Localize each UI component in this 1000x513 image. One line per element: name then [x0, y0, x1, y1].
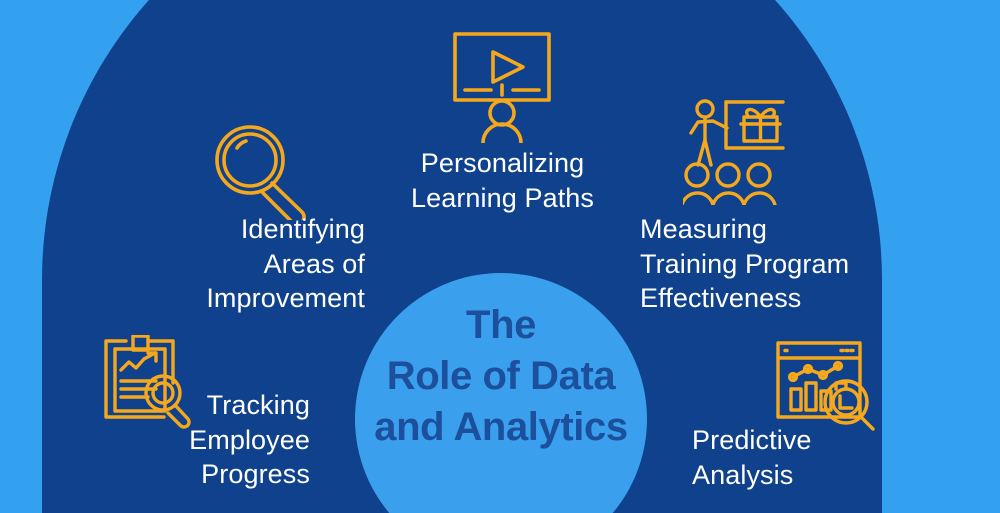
label-measuring-training-program-effectiveness: Measuring Training Program Effectiveness — [640, 212, 920, 316]
infographic-canvas: The Role of Data and Analytics — [0, 0, 1000, 513]
label-predictive-analysis: Predictive Analysis — [692, 423, 942, 492]
label-identifying-areas-of-improvement: Identifying Areas of Improvement — [100, 212, 365, 316]
presenter-audience-gift-icon — [683, 95, 798, 205]
center-title-line-3: and Analytics — [355, 402, 647, 453]
video-lesson-icon — [447, 28, 557, 143]
label-tracking-employee-progress: Tracking Employee Progress — [60, 388, 310, 492]
center-title: The Role of Data and Analytics — [355, 300, 647, 454]
center-title-line-2: Role of Data — [355, 351, 647, 402]
center-title-line-1: The — [355, 300, 647, 351]
dashboard-analytics-magnifier-icon — [772, 337, 877, 432]
magnifier-icon — [210, 120, 312, 220]
label-personalizing-learning-paths: Personalizing Learning Paths — [370, 146, 635, 215]
